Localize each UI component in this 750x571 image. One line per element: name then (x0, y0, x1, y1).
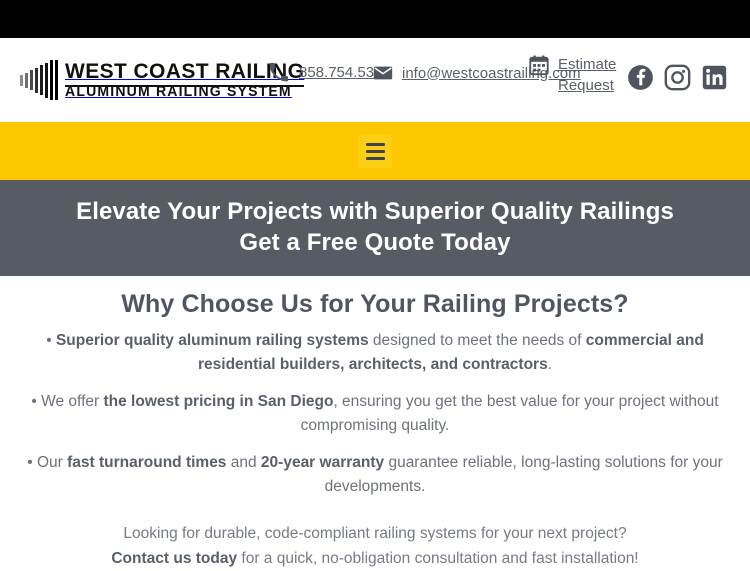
hamburger-menu-icon[interactable] (358, 134, 392, 168)
site-logo[interactable]: WEST COAST RAILING ALUMINUM RAILING SYST… (20, 60, 304, 100)
envelope-icon (372, 62, 394, 84)
estimate-request-link[interactable]: Estimate Request (528, 54, 636, 96)
facebook-icon[interactable] (627, 64, 654, 96)
social-links (627, 38, 728, 122)
bullet-strong-3a: fast turnaround times (67, 454, 226, 471)
bullet-marker: • (31, 393, 41, 410)
header-contact-cluster: 858.754.5337 info@westcoastrailing.com (268, 38, 628, 122)
closing-text: Looking for durable, code-compliant rail… (25, 521, 725, 571)
bullet-mid-3: and (226, 454, 260, 471)
closing-line-1: Looking for durable, code-compliant rail… (123, 525, 626, 542)
hero-line-2: Get a Free Quote Today (20, 227, 730, 258)
bullet-mid-1: designed to meet the needs of (369, 332, 586, 349)
bullet-mid-2: , ensuring you get the best value for yo… (301, 393, 719, 434)
hero-banner: Elevate Your Projects with Superior Qual… (0, 180, 750, 276)
closing-cta: Contact us today (111, 550, 237, 567)
hero-line-1: Elevate Your Projects with Superior Qual… (20, 196, 730, 227)
main-navbar (0, 122, 750, 180)
linkedin-icon[interactable] (701, 64, 728, 96)
bullet-item-1: • Superior quality aluminum railing syst… (16, 329, 734, 377)
logo-subtitle: ALUMINUM RAILING SYSTEM (65, 85, 297, 100)
bullet-marker: • (46, 332, 56, 349)
estimate-request-label: Estimate Request (558, 54, 636, 96)
phone-icon (268, 62, 289, 83)
bullet-item-3: • Our fast turnaround times and 20-year … (16, 451, 734, 499)
bullet-strong-1a: Superior quality aluminum railing system… (56, 332, 369, 349)
bullet-strong-3b: 20-year warranty (261, 454, 384, 471)
bullet-tail-3: guarantee reliable, long-lasting solutio… (325, 454, 723, 495)
bullet-lead-3: Our (37, 454, 67, 471)
bullet-lead-2: We offer (41, 393, 103, 410)
calendar-icon (528, 54, 550, 76)
bullet-strong-2a: the lowest pricing in San Diego (103, 393, 333, 410)
page-title: Why Choose Us for Your Railing Projects? (16, 290, 734, 319)
instagram-icon[interactable] (664, 64, 691, 96)
main-content: Why Choose Us for Your Railing Projects?… (0, 276, 750, 571)
bullet-tail-1: . (548, 356, 552, 373)
top-black-bar (0, 0, 750, 38)
page-root: WEST COAST RAILING ALUMINUM RAILING SYST… (0, 0, 750, 563)
bullet-marker: • (27, 454, 37, 471)
bullet-item-2: • We offer the lowest pricing in San Die… (16, 390, 734, 438)
site-header: WEST COAST RAILING ALUMINUM RAILING SYST… (0, 38, 750, 122)
logo-bars-icon (20, 60, 58, 100)
closing-line-2: for a quick, no-obligation consultation … (237, 550, 639, 567)
